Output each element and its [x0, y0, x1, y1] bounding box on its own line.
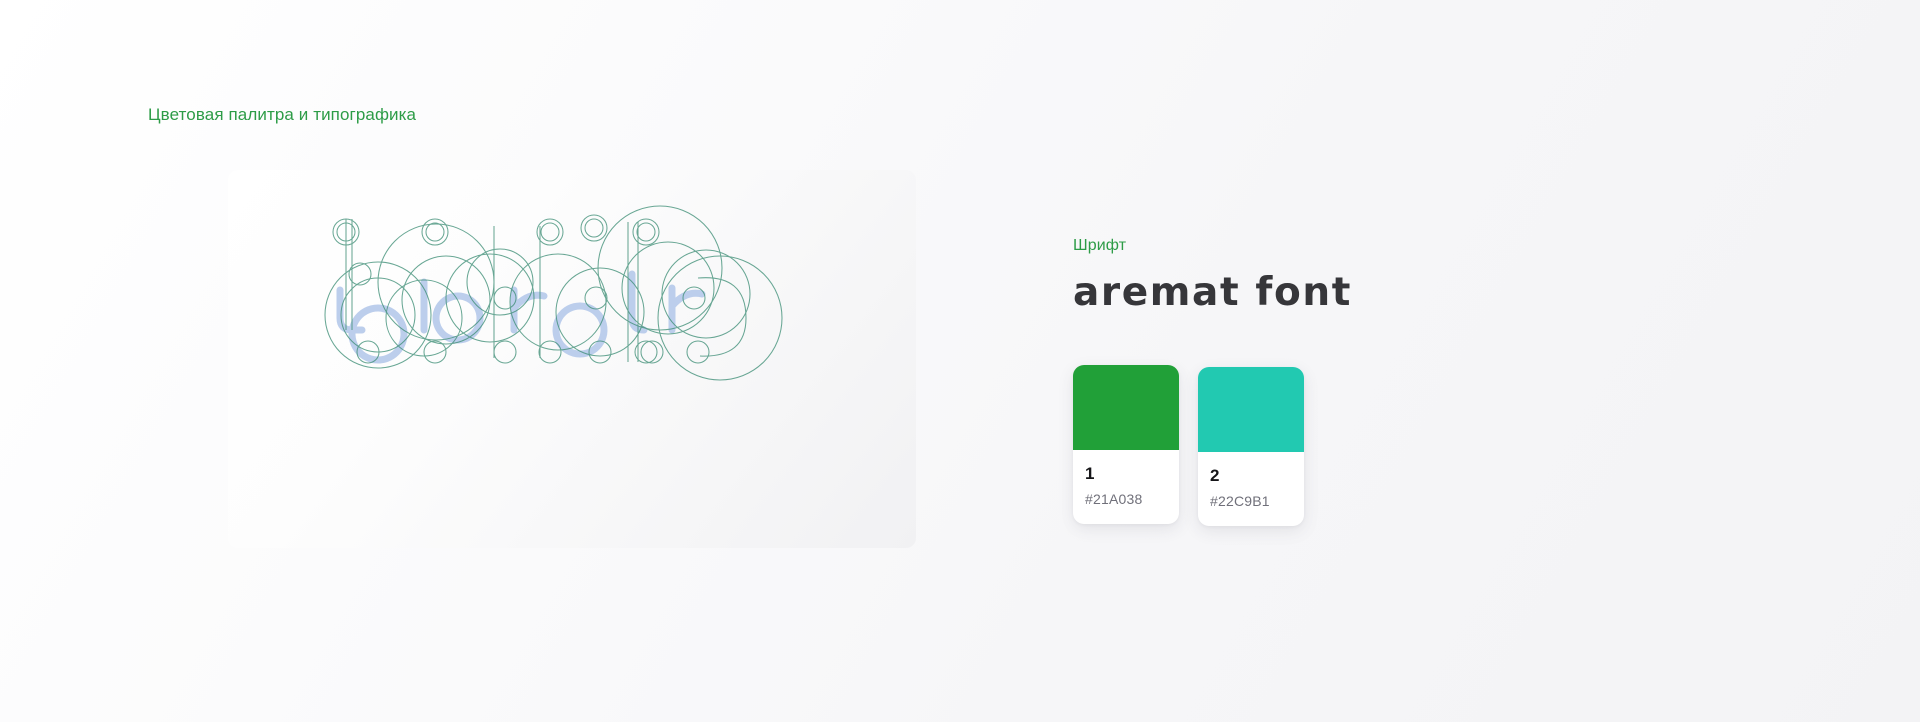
swatch-meta: 1 #21A038 [1073, 450, 1179, 524]
type-construction-panel [228, 170, 916, 548]
font-specimen: aremat font [1073, 270, 1493, 316]
swatch-color-chip [1198, 367, 1304, 452]
swatch-card[interactable]: 1 #21A038 [1073, 365, 1179, 524]
swatch-index: 1 [1085, 464, 1167, 484]
swatch-color-chip [1073, 365, 1179, 450]
swatch-hex-value: #22C9B1 [1210, 493, 1292, 510]
type-construction-grid-icon [228, 170, 916, 548]
swatch-hex-value: #21A038 [1085, 491, 1167, 508]
swatch-card[interactable]: 2 #22C9B1 [1198, 367, 1304, 526]
font-label: Шрифт [1073, 236, 1493, 256]
page-title: Цветовая палитра и типографика [148, 104, 416, 126]
swatch-index: 2 [1210, 466, 1292, 486]
swatch-meta: 2 #22C9B1 [1198, 452, 1304, 526]
typography-section: Шрифт aremat font [1073, 236, 1493, 316]
color-palette: 1 #21A038 2 #22C9B1 [1073, 365, 1304, 526]
